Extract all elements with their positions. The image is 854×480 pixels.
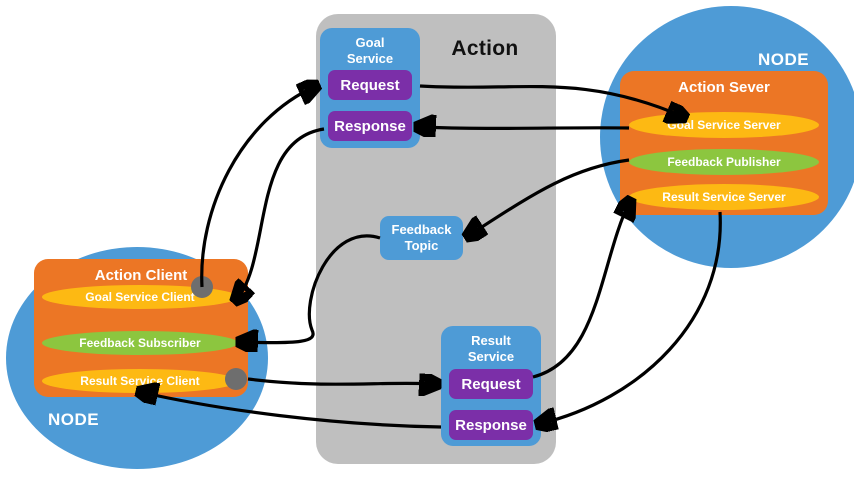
feedback-topic-title: Feedback Topic <box>392 222 452 254</box>
diagram-canvas: Action NODE Action Sever Goal Service Se… <box>0 0 854 480</box>
feedback-topic-title-line2: Topic <box>405 238 439 253</box>
arrow-goal-response-to-goal-client <box>236 129 324 300</box>
goal-service-request-message[interactable]: Request <box>328 70 412 100</box>
connector-dot-result-client-icon <box>225 368 247 390</box>
arrow-goal-client-to-goal-request <box>202 86 316 287</box>
goal-service-title-line2: Service <box>347 51 393 66</box>
interface-result-service-client[interactable]: Result Service Client <box>42 369 238 393</box>
result-service-title-line2: Service <box>468 349 514 364</box>
action-panel-title: Action <box>430 37 540 61</box>
interface-result-service-server[interactable]: Result Service Server <box>629 184 819 210</box>
connector-dot-goal-client-icon <box>191 276 213 298</box>
goal-service-response-message[interactable]: Response <box>328 111 412 141</box>
action-server-title: Action Sever <box>620 79 828 96</box>
result-service-title-line1: Result <box>471 333 511 348</box>
feedback-topic-title-line1: Feedback <box>392 222 452 237</box>
action-client-node-label: NODE <box>48 410 99 430</box>
action-client-title: Action Client <box>34 267 248 284</box>
action-server-node-label: NODE <box>758 50 809 70</box>
interface-feedback-subscriber[interactable]: Feedback Subscriber <box>42 331 238 355</box>
interface-goal-service-server[interactable]: Goal Service Server <box>629 112 819 138</box>
goal-service-title-line1: Goal <box>356 35 385 50</box>
result-service-title: Result Service <box>441 333 541 365</box>
result-service-response-message[interactable]: Response <box>449 410 533 440</box>
feedback-topic-box[interactable]: Feedback Topic <box>380 216 463 260</box>
result-service-request-message[interactable]: Request <box>449 369 533 399</box>
interface-feedback-publisher[interactable]: Feedback Publisher <box>629 149 819 175</box>
goal-service-title: Goal Service <box>320 35 420 67</box>
